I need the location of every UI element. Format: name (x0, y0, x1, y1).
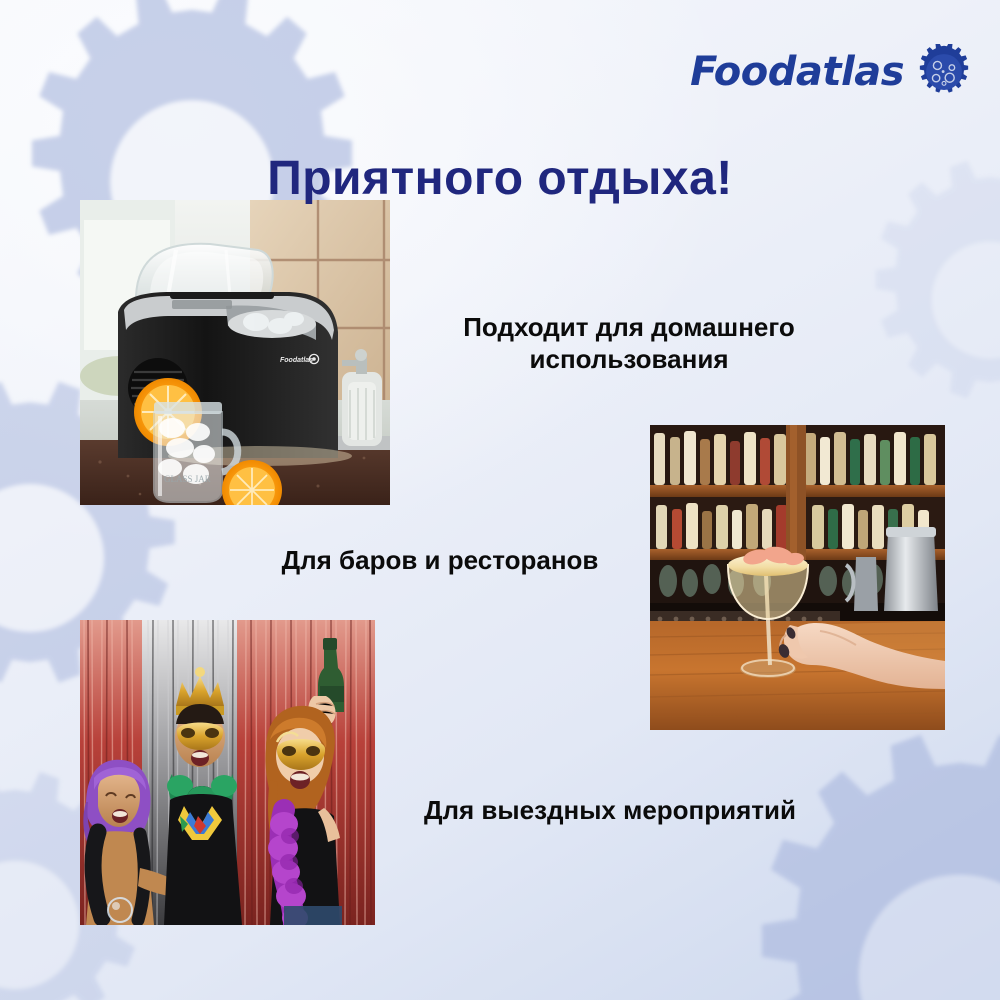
photo-party (80, 620, 375, 925)
brand-logo[interactable]: Foodatlas (690, 44, 972, 100)
party-people-illustration (80, 620, 375, 925)
photo-bar-cocktail (650, 425, 945, 730)
feature-caption-home-use: Подходит для домашнего использования (404, 312, 854, 375)
feature-caption-bars-restaurants: Для баров и ресторанов (205, 545, 675, 577)
gear-icon-bottom-right (700, 716, 1000, 1000)
gear-globe-icon (916, 44, 972, 100)
svg-text:GLASS JAR: GLASS JAR (164, 474, 211, 484)
feature-caption-catering-events: Для выездных мероприятий (375, 795, 845, 827)
bar-cocktail-illustration (650, 425, 945, 730)
svg-text:Foodatlas: Foodatlas (280, 357, 313, 364)
poster-canvas: Foodatlas Приятного отдыха! (0, 0, 1000, 1000)
photo-ice-maker: Foodatlas (80, 200, 390, 505)
ice-maker-illustration: Foodatlas (80, 200, 390, 505)
brand-name: Foodatlas (690, 52, 904, 92)
page-title: Приятного отдыха! (0, 154, 1000, 204)
